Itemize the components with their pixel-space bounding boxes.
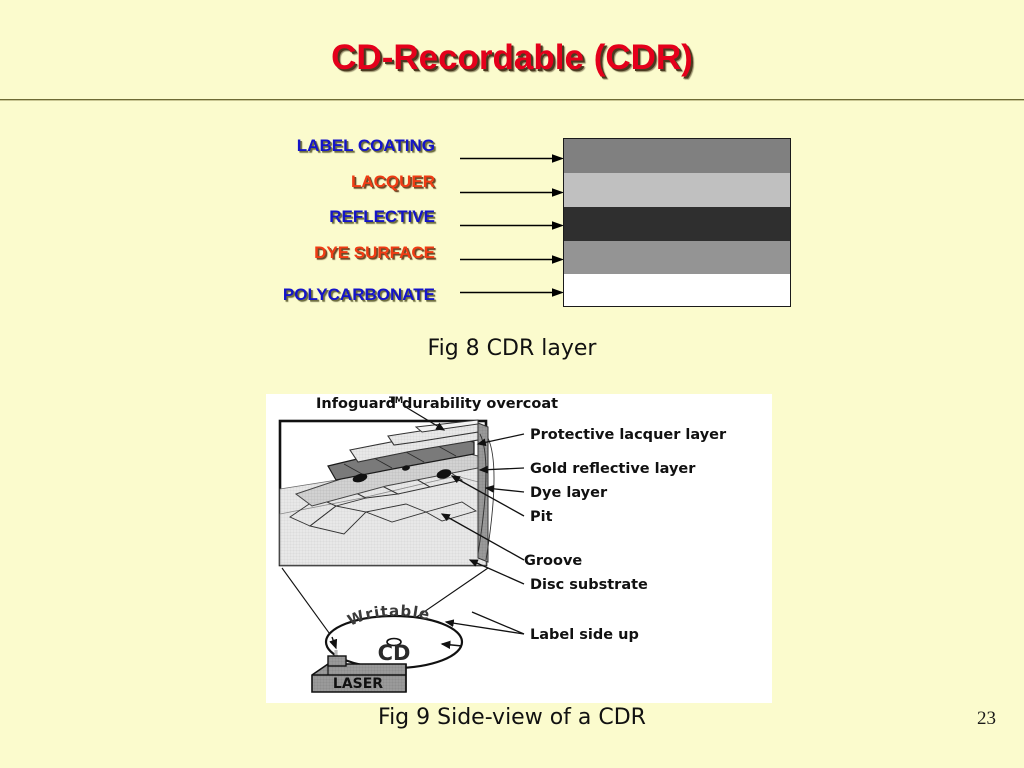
layer-band-reflective <box>564 207 790 241</box>
svg-text:durability overcoat: durability overcoat <box>402 396 558 412</box>
svg-text:Groove: Groove <box>524 553 582 569</box>
layer-label-dye-surface: DYE SURFACE <box>105 243 435 263</box>
arrow-icon-label-coating <box>460 150 564 159</box>
arrow-icon-polycarbonate <box>460 284 564 293</box>
arrow-icon-dye-surface <box>460 251 564 260</box>
svg-text:Pit: Pit <box>530 509 553 525</box>
layer-band-dye-surface <box>564 241 790 274</box>
figure-8-cdr-layer: LABEL COATING LACQUER REFLECTIVE DYE SUR… <box>0 0 1024 380</box>
layer-label-reflective: REFLECTIVE <box>105 207 435 227</box>
svg-text:Dye layer: Dye layer <box>530 485 608 501</box>
layer-band-polycarbonate <box>564 274 790 306</box>
svg-text:CD: CD <box>378 641 411 665</box>
page-number: 23 <box>977 708 996 730</box>
svg-text:Protective lacquer layer: Protective lacquer layer <box>530 427 727 443</box>
layer-band-lacquer <box>564 173 790 207</box>
slide-canvas: CD-Recordable (CDR) LABEL COATING LACQUE… <box>0 0 1024 768</box>
layer-label-label-coating: LABEL COATING <box>105 136 435 156</box>
figure-9-caption: Fig 9 Side-view of a CDR <box>0 705 1024 730</box>
figure-8-caption: Fig 8 CDR layer <box>0 336 1024 361</box>
figure-9-side-view-image: Infoguard TM durability overcoat Protect… <box>266 394 772 703</box>
svg-text:Gold reflective layer: Gold reflective layer <box>530 461 696 477</box>
layer-label-polycarbonate: POLYCARBONATE <box>105 285 435 305</box>
arrow-icon-reflective <box>460 217 564 226</box>
svg-text:Disc substrate: Disc substrate <box>530 577 648 593</box>
svg-text:Infoguard: Infoguard <box>316 396 396 412</box>
layer-band-label-coating <box>564 139 790 173</box>
svg-text:LASER: LASER <box>333 676 383 692</box>
arrow-icon-lacquer <box>460 184 564 193</box>
layer-label-lacquer: LACQUER <box>105 172 435 192</box>
svg-text:Label side up: Label side up <box>530 627 639 643</box>
cdr-layer-stack <box>563 138 791 307</box>
